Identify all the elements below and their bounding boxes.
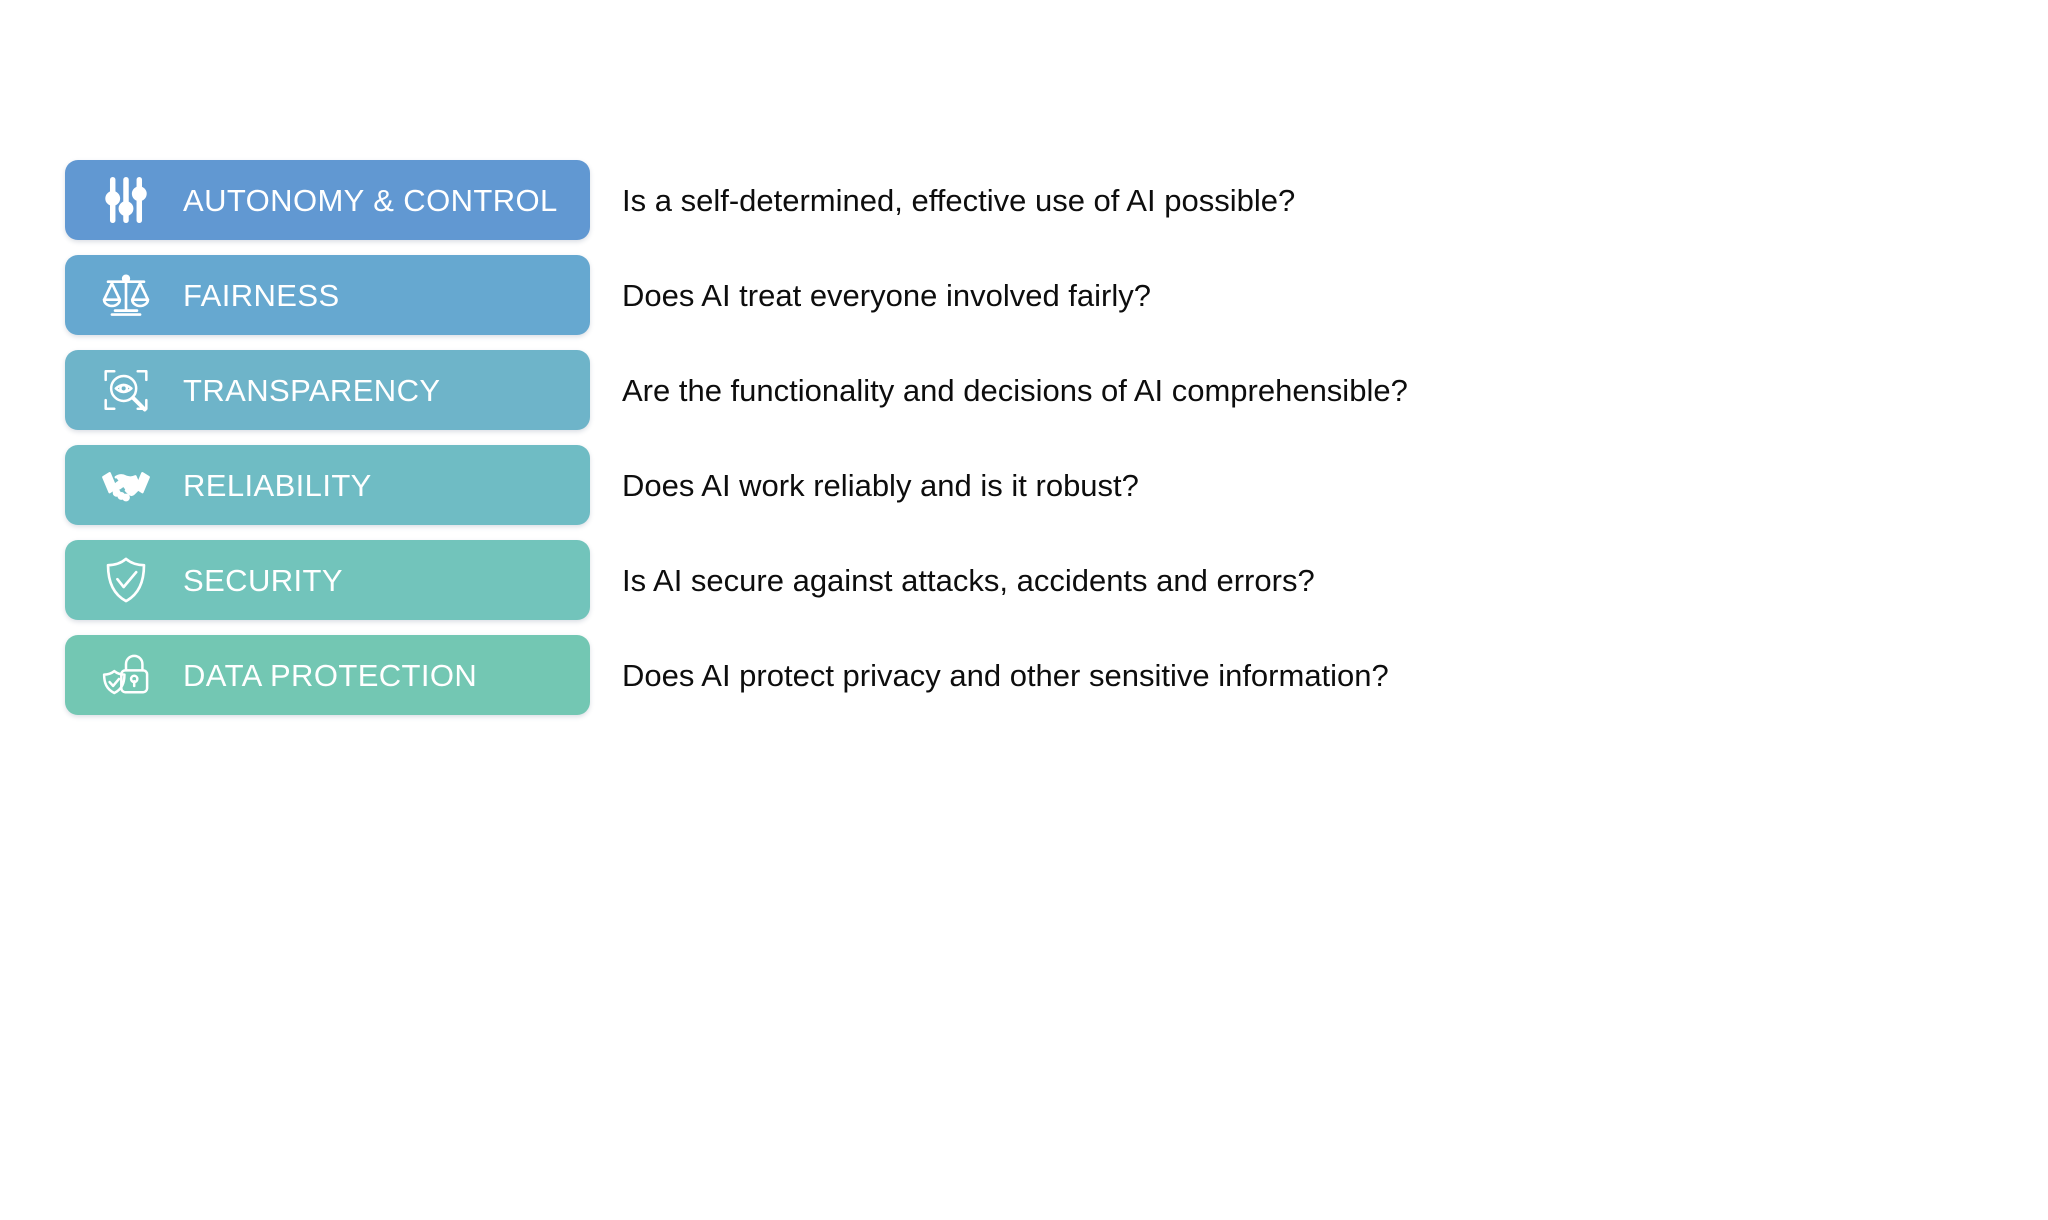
dimension-question: Does AI treat everyone involved fairly? [622,280,1151,311]
dimension-row: RELIABILITYDoes AI work reliably and is … [65,445,1965,525]
dimension-pill[interactable]: DATA PROTECTION [65,635,590,715]
dimension-pill[interactable]: RELIABILITY [65,445,590,525]
dimension-row: DATA PROTECTIONDoes AI protect privacy a… [65,635,1965,715]
dimension-label: FAIRNESS [183,280,340,311]
balance-scales-icon [99,268,153,322]
dimension-label: AUTONOMY & CONTROL [183,185,558,216]
dimension-label: RELIABILITY [183,470,372,501]
dimension-question: Does AI work reliably and is it robust? [622,470,1139,501]
ai-ethics-dimensions-board: AUTONOMY & CONTROLIs a self-determined, … [0,0,2048,1220]
dimension-rows: AUTONOMY & CONTROLIs a self-determined, … [65,160,1965,730]
shield-check-icon [99,553,153,607]
dimension-label: SECURITY [183,565,343,596]
dimension-row: SECURITYIs AI secure against attacks, ac… [65,540,1965,620]
dimension-question: Are the functionality and decisions of A… [622,375,1408,406]
dimension-pill[interactable]: FAIRNESS [65,255,590,335]
sliders-icon [99,173,153,227]
dimension-question: Is a self-determined, effective use of A… [622,185,1295,216]
dimension-row: AUTONOMY & CONTROLIs a self-determined, … [65,160,1965,240]
dimension-pill[interactable]: AUTONOMY & CONTROL [65,160,590,240]
dimension-label: TRANSPARENCY [183,375,440,406]
lock-shield-icon [99,648,153,702]
dimension-pill[interactable]: SECURITY [65,540,590,620]
handshake-icon [99,458,153,512]
magnifier-eye-icon [99,363,153,417]
dimension-question: Is AI secure against attacks, accidents … [622,565,1315,596]
dimension-question: Does AI protect privacy and other sensit… [622,660,1389,691]
dimension-row: FAIRNESSDoes AI treat everyone involved … [65,255,1965,335]
dimension-row: TRANSPARENCYAre the functionality and de… [65,350,1965,430]
dimension-label: DATA PROTECTION [183,660,477,691]
dimension-pill[interactable]: TRANSPARENCY [65,350,590,430]
